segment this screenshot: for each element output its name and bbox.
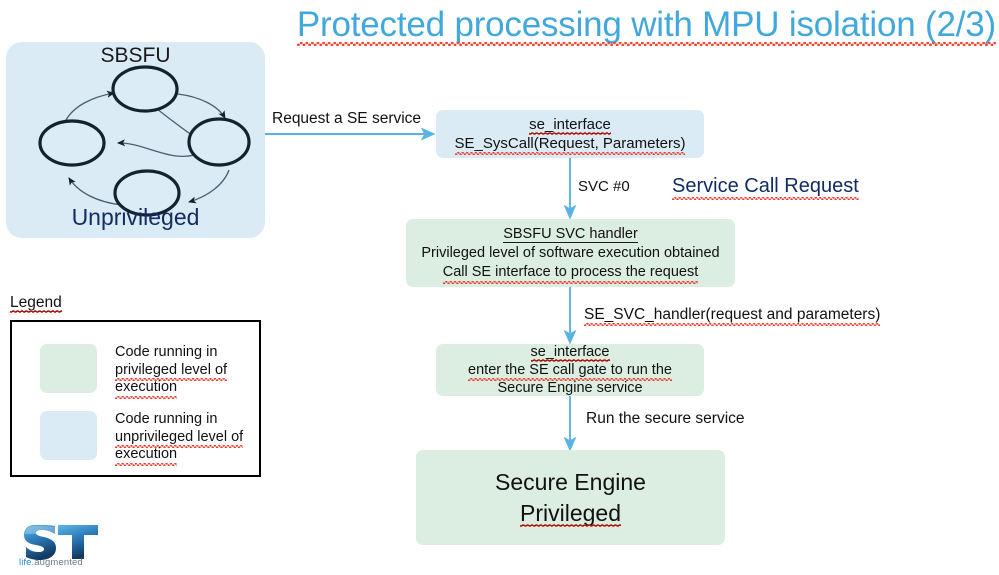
legend-swatch-unprivileged [40,411,97,460]
label-svc-number: SVC #0 [578,178,630,195]
label-run-secure-service: Run the secure service [586,410,745,428]
legend-line: Code running in [115,411,265,429]
legend-line: Code running in [115,344,265,362]
label-service-call-request: Service Call Request [672,175,859,198]
flow-box-sbsfu-svc-handler[interactable]: SBSFU SVC handler Privileged level of so… [406,219,735,287]
flow-box-line: Call SE interface to process the request [443,263,699,282]
legend-label-unprivileged: Code running in unprivileged level of ex… [115,411,265,464]
legend-swatch-privileged [40,344,97,393]
flow-box-line: SE_SysCall(Request, Parameters) [455,134,686,153]
label-se-svc-handler-call: SE_SVC_handler(request and parameters) [584,306,880,324]
flow-box-secure-engine[interactable]: Secure Engine Privileged [416,450,725,545]
slide-canvas: Protected processing with MPU isolation … [0,0,999,575]
flow-box-line: Privileged level of software execution o… [421,244,719,263]
flow-box-line: enter the SE call gate to run the [468,361,672,379]
st-logo-tagline: life.augmented [19,557,83,568]
legend-box: Code running in privileged level of exec… [10,320,261,477]
legend-line: unprivileged level of [115,429,265,447]
flow-box-se-interface-1[interactable]: se_interface SE_SysCall(Request, Paramet… [436,110,704,158]
flow-box-line: Secure Engine service [497,379,642,397]
label-request-se-service: Request a SE service [272,110,421,128]
legend-line: execution [115,379,265,397]
flow-box-line: Privileged [520,498,621,529]
flow-box-line: se_interface [529,115,611,134]
legend-item-privileged: Code running in privileged level of exec… [40,344,265,397]
tagline-prefix: life [19,557,32,568]
legend-label-privileged: Code running in privileged level of exec… [115,344,265,397]
flow-box-line: se_interface [531,343,610,361]
flow-box-line: Secure Engine [495,467,646,498]
flow-box-se-interface-2[interactable]: se_interface enter the SE call gate to r… [436,344,704,396]
legend-line: privileged level of [115,362,265,380]
legend-item-unprivileged: Code running in unprivileged level of ex… [40,411,265,464]
flow-box-line: SBSFU SVC handler [503,225,638,244]
legend-title: Legend [10,294,62,312]
legend-line: execution [115,446,265,464]
tagline-suffix: .augmented [32,557,83,568]
